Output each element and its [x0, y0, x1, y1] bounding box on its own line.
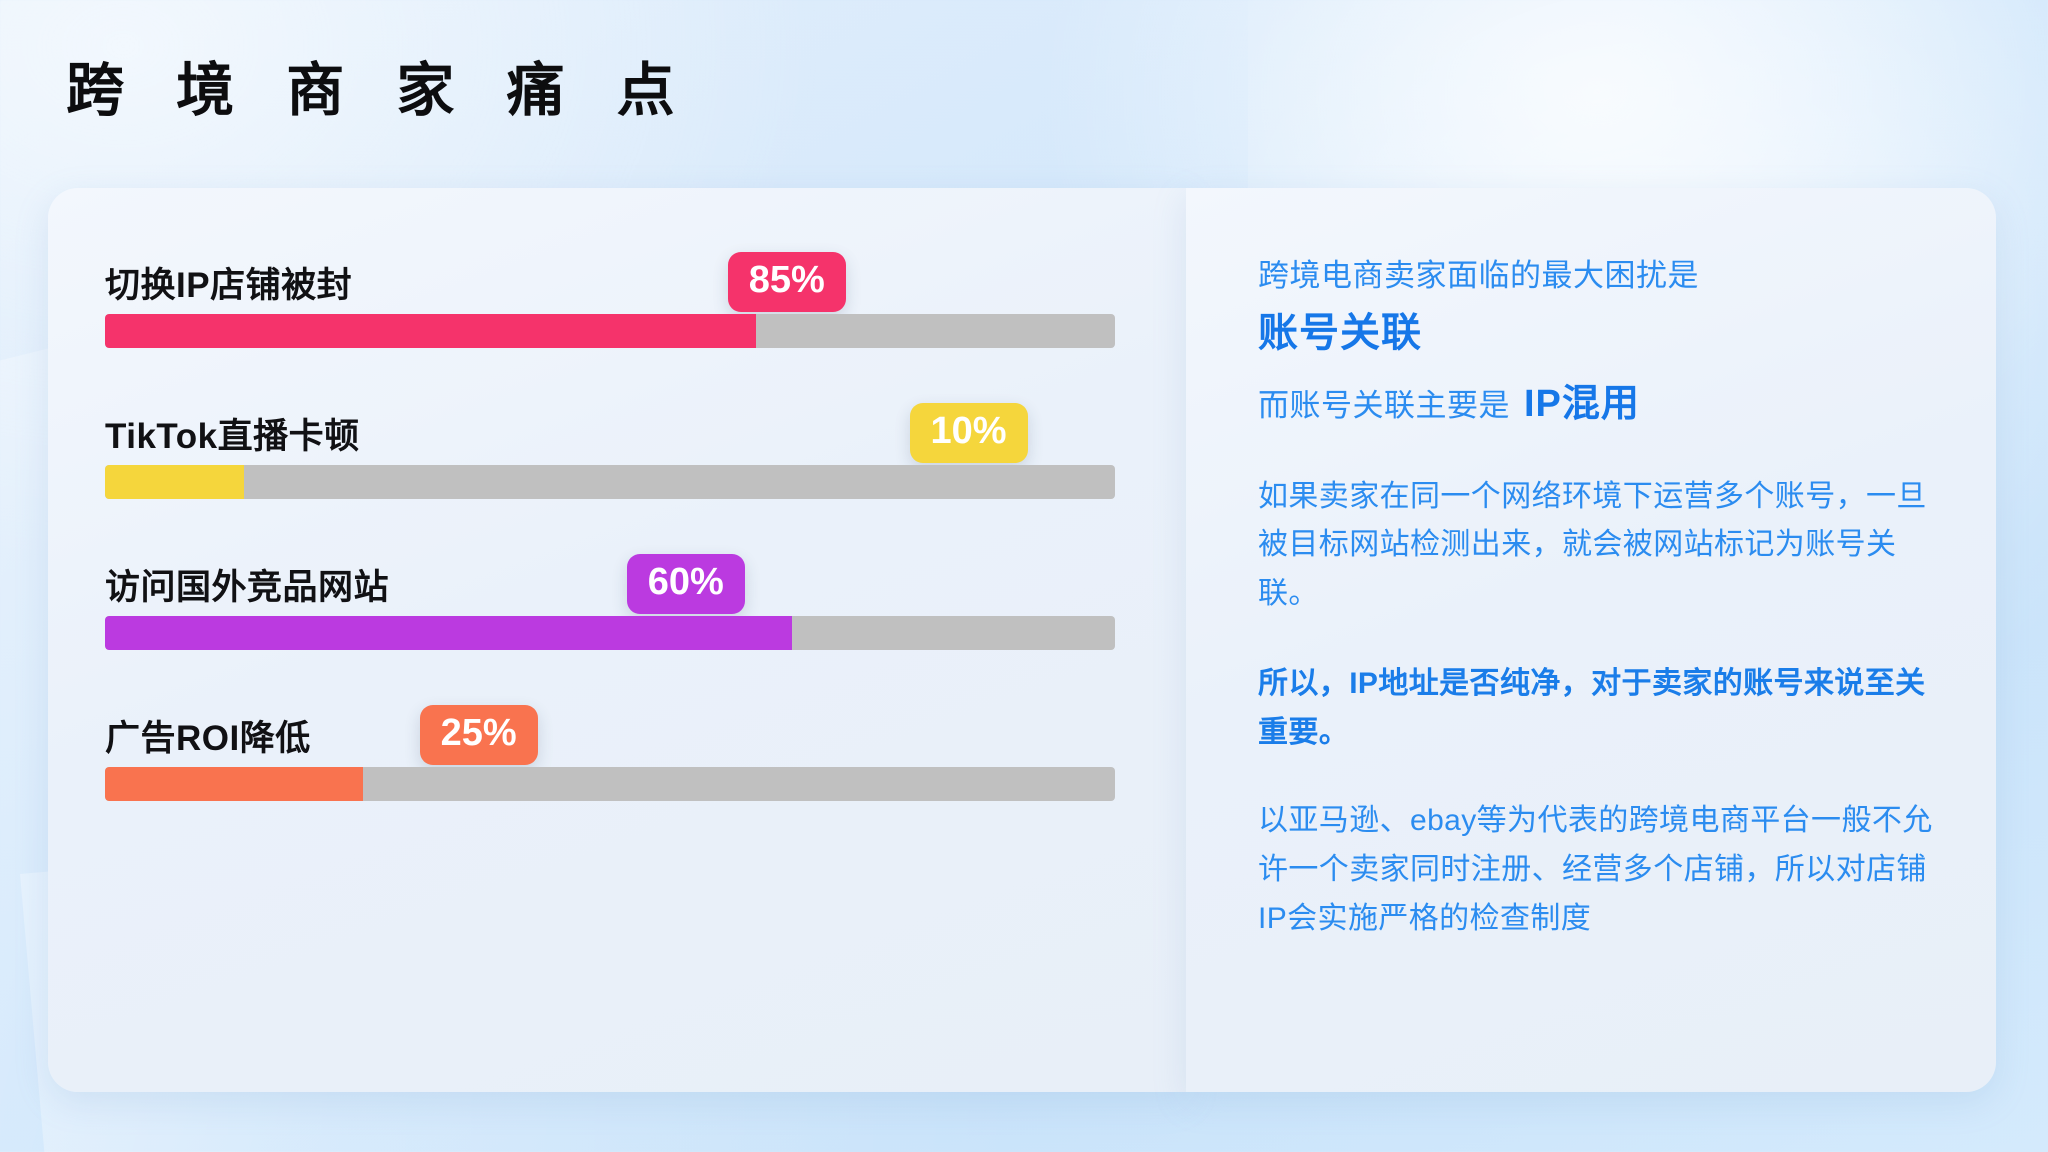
bar-value-badge: 60%	[627, 554, 745, 614]
bar-label: 广告ROI降低	[105, 710, 311, 761]
bar-chart: 切换IP店铺被封85%TikTok直播卡顿10%访问国外竞品网站60%广告ROI…	[105, 240, 1115, 801]
bar-label: TikTok直播卡顿	[105, 408, 360, 459]
copy-keyword: 账号关联	[1258, 304, 1948, 362]
bar-label: 访问国外竞品网站	[105, 559, 389, 610]
copy-paragraph-2: 所以，IP地址是否纯净，对于卖家的账号来说至关重要。	[1258, 660, 1948, 757]
bar-value-badge: 25%	[420, 705, 538, 765]
copy-lead: 跨境电商卖家面临的最大困扰是	[1258, 253, 1948, 300]
bar-value-badge: 10%	[910, 403, 1028, 463]
copy-lead-secondary-emphasis: IP混用	[1524, 376, 1640, 433]
copy-lead-secondary-prefix: 而账号关联主要是	[1258, 383, 1510, 430]
bar-track	[105, 465, 1115, 499]
bar-head: 切换IP店铺被封85%	[105, 240, 1115, 314]
bar-fill	[105, 465, 244, 499]
copy-lead-secondary: 而账号关联主要是 IP混用	[1258, 376, 1948, 433]
bar-label: 切换IP店铺被封	[105, 257, 352, 308]
copy-paragraph-3: 以亚马逊、ebay等为代表的跨境电商平台一般不允许一个卖家同时注册、经营多个店铺…	[1258, 797, 1948, 943]
bar-fill	[105, 616, 792, 650]
pain-points-chart-card: 切换IP店铺被封85%TikTok直播卡顿10%访问国外竞品网站60%广告ROI…	[48, 188, 1186, 1092]
explanation-copy: 跨境电商卖家面临的最大困扰是 账号关联 而账号关联主要是 IP混用 如果卖家在同…	[1258, 253, 1948, 943]
bar-head: 访问国外竞品网站60%	[105, 542, 1115, 616]
page-title: 跨 境 商 家 痛 点	[66, 58, 693, 125]
bar-block: 访问国外竞品网站60%	[105, 542, 1115, 650]
bar-track	[105, 616, 1115, 650]
bar-head: 广告ROI降低25%	[105, 693, 1115, 767]
bar-track	[105, 767, 1115, 801]
bar-value-badge: 85%	[728, 252, 846, 312]
explanation-card: 跨境电商卖家面临的最大困扰是 账号关联 而账号关联主要是 IP混用 如果卖家在同…	[1186, 188, 1996, 1092]
bar-block: 广告ROI降低25%	[105, 693, 1115, 801]
bar-fill	[105, 767, 363, 801]
bar-block: 切换IP店铺被封85%	[105, 240, 1115, 348]
copy-paragraph-1: 如果卖家在同一个网络环境下运营多个账号，一旦被目标网站检测出来，就会被网站标记为…	[1258, 473, 1948, 619]
content-board: 切换IP店铺被封85%TikTok直播卡顿10%访问国外竞品网站60%广告ROI…	[48, 188, 1996, 1092]
bar-track	[105, 314, 1115, 348]
bar-head: TikTok直播卡顿10%	[105, 391, 1115, 465]
bar-block: TikTok直播卡顿10%	[105, 391, 1115, 499]
bar-fill	[105, 314, 756, 348]
